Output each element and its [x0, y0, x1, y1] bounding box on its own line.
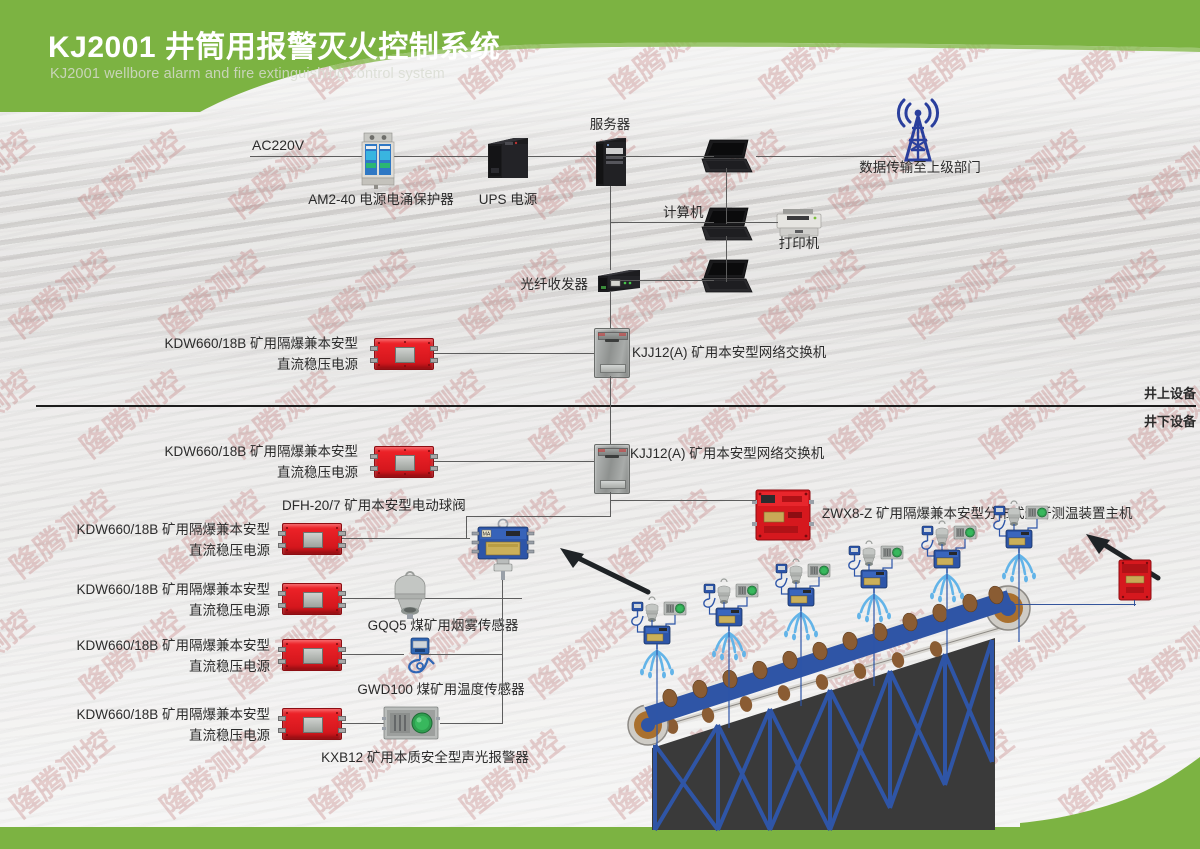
head-box-drop-line	[1134, 600, 1135, 606]
ps2-to-valve-line	[342, 538, 470, 539]
antenna-icon	[890, 100, 946, 162]
surface-power-supply-label-line2: 直流稳压电源	[110, 355, 358, 375]
ups-device	[484, 134, 532, 182]
underground-power-supply-device-1	[374, 446, 434, 478]
station-alarm	[736, 584, 758, 597]
station-control-box	[716, 608, 742, 626]
transceiver-to-switch-line	[610, 292, 611, 328]
sprinkler-station-6	[990, 502, 1080, 646]
station-smoke-sensor	[646, 597, 658, 622]
smoke-to-collector-line	[435, 598, 503, 599]
station-alarm	[881, 546, 903, 559]
bus-to-computer3-line	[610, 280, 714, 281]
computer2-to-computer3-line	[726, 236, 727, 282]
page-header: KJ2001 井筒用报警灭火控制系统 KJ2001 wellbore alarm…	[0, 0, 1200, 112]
ps5-to-alarm-line	[342, 723, 384, 724]
station-alarm	[1026, 506, 1048, 519]
surface-to-underground-trunk-line	[610, 376, 611, 446]
bus-to-antenna-line	[756, 156, 896, 157]
station-alarm	[664, 602, 686, 615]
server-to-transceiver-line	[610, 186, 611, 270]
surface-ps-to-switch-line	[434, 353, 594, 354]
station-temp-sensor	[849, 546, 860, 569]
station-smoke-sensor	[718, 579, 730, 604]
svg-text:MA: MA	[483, 532, 491, 538]
head-box-to-drum-line	[1008, 604, 1136, 605]
ground-level-divider	[36, 405, 1196, 407]
computer-label: 计算机	[663, 203, 704, 222]
computer2-to-printer-line	[726, 222, 778, 223]
station-temp-sensor	[994, 506, 1005, 529]
underground-network-switch-device	[594, 444, 630, 494]
antenna-label: 数据传输至上级部门	[850, 158, 990, 177]
underground-ps-label-5-line2: 直流稳压电源	[70, 726, 270, 745]
station-alarm	[808, 564, 830, 577]
station-control-box	[934, 550, 960, 568]
surge-protector-label: AM2-40 电源电涌保护器	[306, 190, 456, 209]
temp-to-collector-line	[420, 654, 503, 655]
temperature-sensor-label: GWD100 煤矿用温度传感器	[336, 680, 546, 699]
computer1-to-computer2-line	[726, 168, 727, 224]
page-subtitle: KJ2001 wellbore alarm and fire extinguis…	[50, 66, 445, 82]
underground-ps-label-1-line2: 直流稳压电源	[110, 463, 358, 482]
surface-power-supply-label-line1: KDW660/18B 矿用隔爆兼本安型	[110, 334, 358, 354]
underground-switch-label: KJJ12(A) 矿用本安型网络交换机	[630, 444, 824, 463]
valve-bus-drop-line	[466, 516, 467, 538]
station-control-box	[1006, 530, 1032, 548]
switch-to-zwx-line	[610, 500, 756, 501]
server-label: 服务器	[570, 115, 650, 134]
underground-ps-label-3-line1: KDW660/18B 矿用隔爆兼本安型	[70, 580, 270, 599]
bus-to-computer2-line	[610, 222, 714, 223]
station-smoke-sensor	[790, 559, 802, 584]
underground-ps-label-2-line1: KDW660/18B 矿用隔爆兼本安型	[70, 520, 270, 539]
ac-power-bus-line	[250, 156, 598, 157]
underground-ps-label-4-line2: 直流稳压电源	[70, 657, 270, 676]
underground-ps-label-5-line1: KDW660/18B 矿用隔爆兼本安型	[70, 705, 270, 724]
printer-label: 打印机	[764, 234, 834, 253]
station-control-box	[644, 626, 670, 644]
underground-power-supply-device-3	[282, 583, 342, 615]
server-device	[594, 136, 628, 188]
station-temp-sensor	[632, 602, 643, 625]
alarm-to-collector-line	[440, 723, 503, 724]
station-temp-sensor	[704, 584, 715, 607]
station-smoke-sensor	[936, 521, 948, 546]
ps4-to-temp-sensor-line	[342, 654, 404, 655]
ac-power-label: AC220V	[252, 136, 304, 155]
underground-ps-label-2-line2: 直流稳压电源	[70, 541, 270, 560]
smoke-sensor-device	[385, 572, 435, 620]
sensor-collector-vertical-line	[502, 580, 503, 724]
underground-power-supply-device-2	[282, 523, 342, 555]
station-alarm	[954, 526, 976, 539]
below-ground-label: 井下设备	[1144, 412, 1196, 431]
surface-power-supply-device	[374, 338, 434, 370]
electric-ball-valve-device: MA	[468, 518, 538, 580]
server-to-computer1-line	[610, 156, 714, 157]
station-smoke-sensor	[1008, 501, 1020, 526]
valve-label: DFH-20/7 矿用本安型电动球阀	[282, 496, 466, 515]
station-temp-sensor	[776, 564, 787, 587]
fiber-temp-host-label: ZWX8-Z 矿用隔爆兼本安型分布式光纤测温装置主机	[822, 504, 1133, 523]
underground-ps-label-1-line1: KDW660/18B 矿用隔爆兼本安型	[110, 442, 358, 461]
smoke-sensor-label: GQQ5 煤矿用烟雾传感器	[345, 616, 541, 635]
station-temp-sensor	[922, 526, 933, 549]
surface-network-switch-device	[594, 328, 630, 378]
valve-bus-horizontal-line	[466, 516, 611, 517]
underground-ps-label-3-line2: 直流稳压电源	[70, 601, 270, 620]
ups-label: UPS 电源	[470, 190, 546, 209]
underground-ps1-to-switch-line	[434, 461, 594, 462]
underground-power-supply-device-4	[282, 639, 342, 671]
fiber-transceiver-label: 光纤收发器	[480, 275, 588, 294]
underground-power-supply-device-5	[282, 708, 342, 740]
temperature-sensor-device	[400, 636, 440, 678]
surge-protector-device	[356, 133, 400, 189]
page-title: KJ2001 井筒用报警灭火控制系统	[48, 22, 500, 66]
diagram-canvas: 隆腾测控隆腾测控隆腾测控隆腾测控隆腾测控隆腾测控隆腾测控隆腾测控隆腾测控隆腾测控…	[0, 0, 1200, 849]
switch-zwx-drop	[610, 492, 611, 502]
station-control-box	[861, 570, 887, 588]
sound-light-alarm-device	[382, 703, 440, 745]
surface-switch-label: KJJ12(A) 矿用本安型网络交换机	[632, 343, 826, 362]
conveyor-head-control-box	[1117, 558, 1153, 602]
sound-light-alarm-label: KXB12 矿用本质安全型声光报警器	[300, 748, 550, 767]
underground-ps-label-4-line1: KDW660/18B 矿用隔爆兼本安型	[70, 636, 270, 655]
station-smoke-sensor	[863, 541, 875, 566]
above-ground-label: 井上设备	[1144, 384, 1196, 403]
station-control-box	[788, 588, 814, 606]
